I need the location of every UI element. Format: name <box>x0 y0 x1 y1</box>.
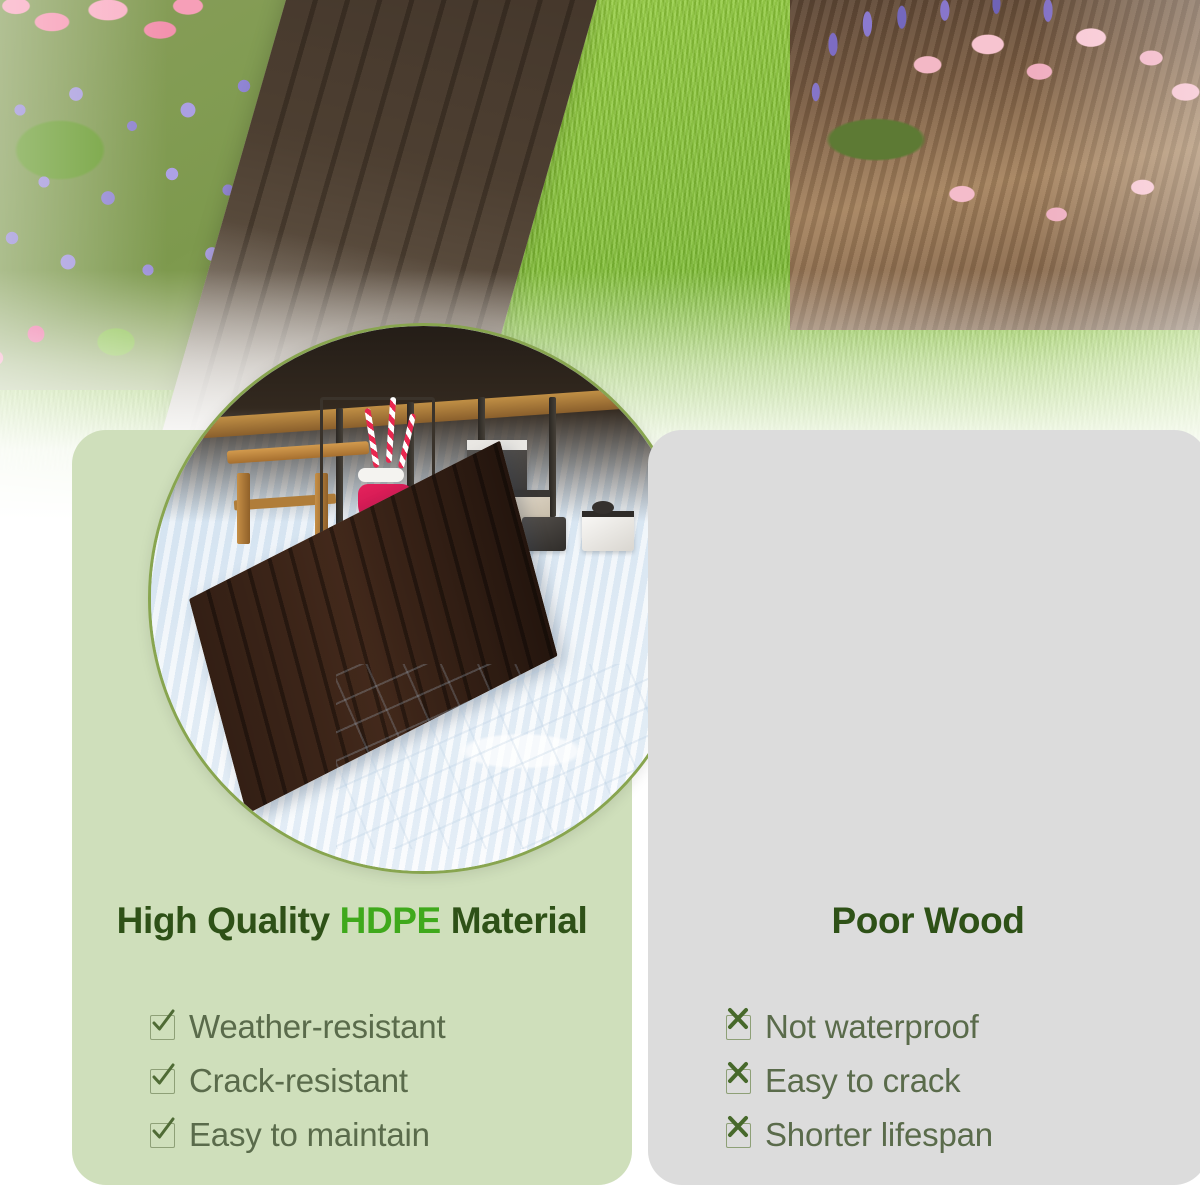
pergola-post <box>549 397 556 517</box>
feature-item: Easy to crack <box>726 1054 1200 1108</box>
feature-item: Crack-resistant <box>150 1054 710 1108</box>
cross-box-icon <box>726 1069 751 1094</box>
gift-box <box>522 517 566 551</box>
feature-item: Weather-resistant <box>150 1000 710 1054</box>
feature-label: Shorter lifespan <box>765 1116 993 1154</box>
check-box-icon <box>150 1123 175 1148</box>
title-suffix: Material <box>441 900 588 941</box>
feature-label: Weather-resistant <box>189 1008 445 1046</box>
hdpe-card-title: High Quality HDPE Material <box>72 900 632 942</box>
cross-box-icon <box>726 1123 751 1148</box>
feature-label: Crack-resistant <box>189 1062 408 1100</box>
hdpe-comparison-card: High Quality HDPE Material Weather-resis… <box>72 430 632 1185</box>
feature-label: Not waterproof <box>765 1008 979 1046</box>
cross-box-icon <box>726 1015 751 1040</box>
poor-wood-feature-list: Not waterproof Easy to crack Shorter lif… <box>648 1000 1200 1162</box>
gift-box <box>582 511 634 551</box>
title-accent-hdpe: HDPE <box>340 900 441 941</box>
bench-leg <box>237 473 250 544</box>
title-prefix: High Quality <box>117 900 340 941</box>
snow-footprint-texture <box>336 664 652 849</box>
infographic-root: High Quality HDPE Material Weather-resis… <box>0 0 1200 1200</box>
comparison-section: High Quality HDPE Material Weather-resis… <box>0 430 1200 1200</box>
feature-item: Easy to maintain <box>150 1108 710 1162</box>
feature-item: Shorter lifespan <box>726 1108 1200 1162</box>
check-box-icon <box>150 1015 175 1040</box>
santa-boot-cuff <box>358 468 404 482</box>
feature-item: Not waterproof <box>726 1000 1200 1054</box>
hdpe-feature-list: Weather-resistant Crack-resistant Easy t… <box>72 1000 710 1162</box>
poor-wood-comparison-card: Poor Wood Not waterproof Easy to crack <box>648 430 1200 1185</box>
check-box-icon <box>150 1069 175 1094</box>
poor-wood-card-title: Poor Wood <box>648 900 1200 942</box>
hdpe-product-photo <box>148 323 699 874</box>
feature-label: Easy to crack <box>765 1062 960 1100</box>
feature-label: Easy to maintain <box>189 1116 430 1154</box>
